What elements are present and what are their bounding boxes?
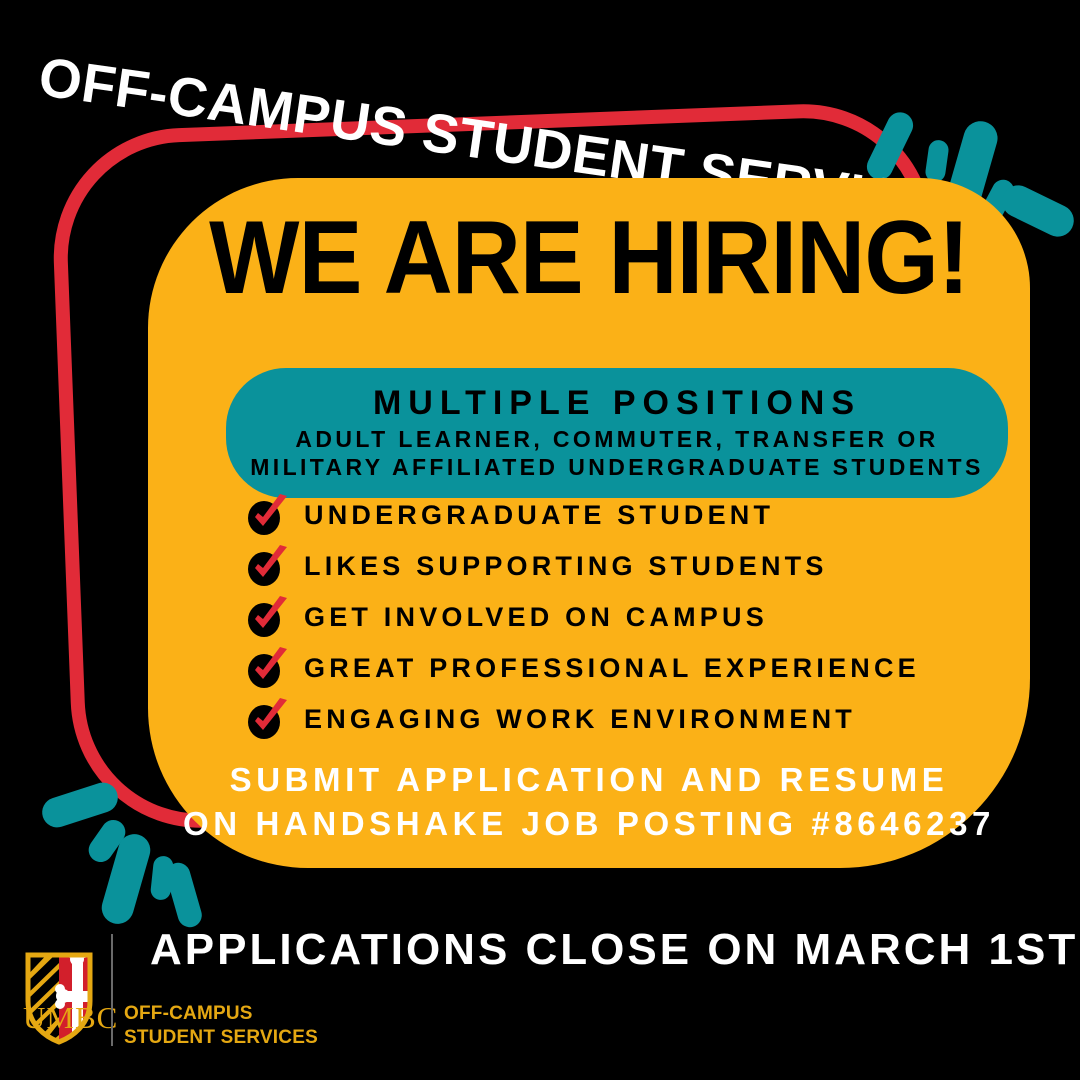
check-circle-icon bbox=[244, 595, 290, 641]
deadline-text: APPLICATIONS CLOSE ON MARCH 1ST bbox=[150, 925, 1078, 975]
submit-instructions: SUBMIT APPLICATION AND RESUME ON HANDSHA… bbox=[148, 758, 1030, 845]
positions-banner-title: MULTIPLE POSITIONS bbox=[236, 382, 998, 425]
list-item: LIKES SUPPORTING STUDENTS bbox=[244, 541, 1034, 592]
card-content: WE ARE HIRING! MULTIPLE POSITIONS ADULT … bbox=[148, 178, 1030, 868]
department-name: OFF-CAMPUS STUDENT SERVICES bbox=[124, 1002, 318, 1051]
department-name-line2: STUDENT SERVICES bbox=[124, 1026, 318, 1050]
list-item-label: GET INVOLVED ON CAMPUS bbox=[304, 602, 768, 633]
list-item-label: ENGAGING WORK ENVIRONMENT bbox=[304, 704, 856, 735]
department-name-line1: OFF-CAMPUS bbox=[124, 1002, 318, 1026]
list-item-label: UNDERGRADUATE STUDENT bbox=[304, 500, 774, 531]
list-item: GREAT PROFESSIONAL EXPERIENCE bbox=[244, 643, 1034, 694]
list-item: ENGAGING WORK ENVIRONMENT bbox=[244, 694, 1034, 745]
headline: WE ARE HIRING! bbox=[183, 206, 994, 310]
list-item-label: GREAT PROFESSIONAL EXPERIENCE bbox=[304, 653, 920, 684]
positions-banner: MULTIPLE POSITIONS ADULT LEARNER, COMMUT… bbox=[226, 368, 1008, 498]
check-circle-icon bbox=[244, 646, 290, 692]
list-item: UNDERGRADUATE STUDENT bbox=[244, 490, 1034, 541]
submit-instructions-line1: SUBMIT APPLICATION AND RESUME bbox=[148, 758, 1030, 802]
submit-instructions-line2: ON HANDSHAKE JOB POSTING #8646237 bbox=[148, 802, 1030, 846]
list-item-label: LIKES SUPPORTING STUDENTS bbox=[304, 551, 828, 582]
positions-banner-subtitle-line2: MILITARY AFFILIATED UNDERGRADUATE STUDEN… bbox=[236, 453, 998, 482]
check-circle-icon bbox=[244, 697, 290, 743]
check-circle-icon bbox=[244, 493, 290, 539]
sparkle-capsule bbox=[163, 860, 204, 930]
sparkle-capsule bbox=[98, 830, 154, 927]
poster-canvas: OFF-CAMPUS STUDENT SERVICES WE ARE HIRIN… bbox=[0, 0, 1080, 1080]
positions-banner-subtitle-line1: ADULT LEARNER, COMMUTER, TRANSFER OR bbox=[236, 425, 998, 454]
list-item: GET INVOLVED ON CAMPUS bbox=[244, 592, 1034, 643]
requirements-checklist: UNDERGRADUATE STUDENT LIKES SUPPORTING S… bbox=[244, 490, 1034, 745]
check-circle-icon bbox=[244, 544, 290, 590]
sparkle-capsule bbox=[84, 815, 130, 866]
umbc-wordmark: UMBC bbox=[23, 1000, 118, 1036]
logo-divider bbox=[111, 934, 113, 1046]
